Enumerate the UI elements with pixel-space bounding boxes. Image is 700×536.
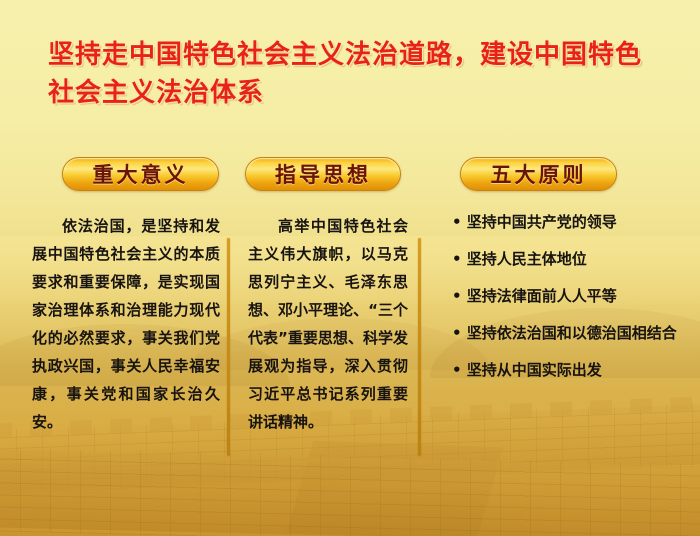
section-badge-five-principles: 五大原则 bbox=[460, 157, 617, 191]
badge-label: 指导思想 bbox=[275, 159, 371, 189]
section-badge-guiding-ideology: 指导思想 bbox=[245, 157, 401, 191]
poster-canvas: 坚持走中国特色社会主义法治道路，建设中国特色社会主义法治体系 重大意义 指导思想… bbox=[0, 0, 700, 536]
list-item: • 坚持人民主体地位 bbox=[428, 245, 680, 273]
column-guiding-ideology: 高举中国特色社会主义伟大旗帜，以马克思列宁主义、毛泽东思想、邓小平理论、“三个代… bbox=[248, 212, 408, 436]
badge-label: 五大原则 bbox=[491, 159, 587, 189]
section-badge-significance: 重大意义 bbox=[62, 157, 219, 191]
page-title: 坚持走中国特色社会主义法治道路，建设中国特色社会主义法治体系 bbox=[48, 36, 668, 112]
column-five-principles: • 坚持中国共产党的领导 • 坚持人民主体地位 • 坚持法律面前人人平等 • 坚… bbox=[428, 208, 680, 393]
principles-list: • 坚持中国共产党的领导 • 坚持人民主体地位 • 坚持法律面前人人平等 • 坚… bbox=[428, 208, 680, 384]
list-item: • 坚持从中国实际出发 bbox=[428, 356, 680, 384]
column-divider bbox=[227, 238, 230, 456]
column-significance: 依法治国，是坚持和发展中国特色社会主义的本质要求和重要保障，是实现国家治理体系和… bbox=[32, 212, 220, 436]
section-body-text: 高举中国特色社会主义伟大旗帜，以马克思列宁主义、毛泽东思想、邓小平理论、“三个代… bbox=[248, 212, 408, 436]
badge-label: 重大意义 bbox=[93, 159, 189, 189]
list-item: • 坚持法律面前人人平等 bbox=[428, 282, 680, 310]
column-divider bbox=[418, 238, 421, 456]
section-body-text: 依法治国，是坚持和发展中国特色社会主义的本质要求和重要保障，是实现国家治理体系和… bbox=[32, 212, 220, 436]
section-badge-row: 重大意义 指导思想 五大原则 bbox=[0, 157, 700, 193]
list-item: • 坚持中国共产党的领导 bbox=[428, 208, 680, 236]
list-item: • 坚持依法治国和以德治国相结合 bbox=[428, 319, 680, 347]
